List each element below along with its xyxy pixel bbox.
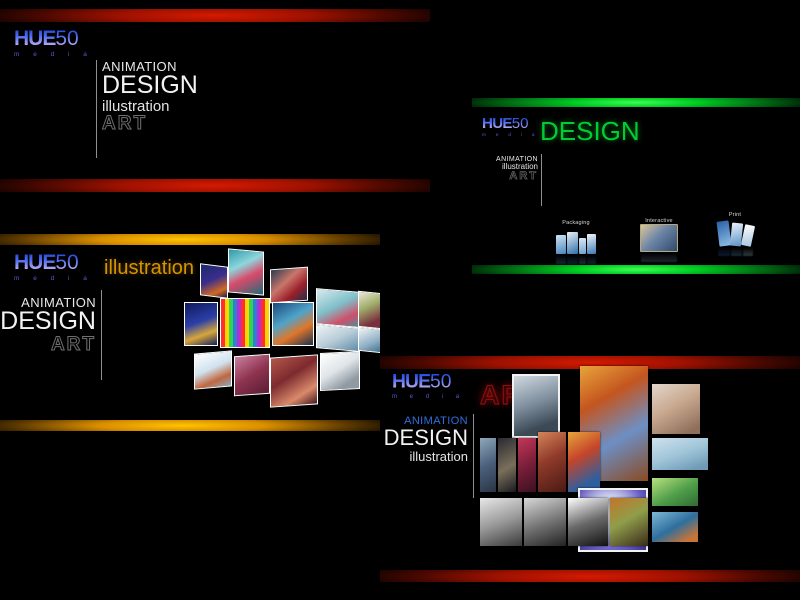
illustration-thumb[interactable] [272,302,314,346]
logo-tagline: m e d i a [392,393,465,399]
nav-divider [473,414,474,498]
logo-wordmark: HUE50 [14,252,93,273]
category-packaging[interactable]: Packaging [546,220,606,264]
logo-tagline: m e d i a [14,275,93,282]
artwork-tile[interactable] [568,498,608,546]
artwork-tile[interactable] [480,498,522,546]
category-label: Packaging [546,220,606,226]
accent-bar-bottom-red [0,179,430,192]
artwork-tile[interactable] [518,438,536,492]
artwork-tile[interactable] [610,498,648,546]
panel-heading-design: DESIGN [540,118,640,144]
nav-divider [101,290,102,380]
accent-bar-bottom-orange [0,420,380,431]
nav-item-design[interactable]: DESIGN [380,427,468,449]
panel-illustration: HUE50 m e d i a illustration ANIMATION D… [0,232,380,432]
accent-bar-bottom-red [380,570,800,582]
artwork-tile[interactable] [512,374,560,438]
nav-item-design[interactable]: DESIGN [0,309,96,335]
accent-bar-top-red [0,9,430,22]
thumbnail-row [628,226,690,252]
category-print[interactable]: Print [708,212,762,256]
thumbnail-reflection [628,253,690,262]
artwork-tile[interactable] [498,438,516,492]
logo-hue50[interactable]: HUE50 m e d i a [482,116,539,138]
nav-item-art[interactable]: ART [0,335,96,354]
logo-tagline: m e d i a [482,133,539,138]
thumbnail-reflection [546,255,606,264]
artwork-tile[interactable] [480,438,496,492]
artwork-tile[interactable] [652,438,708,470]
logo-wordmark: HUE50 [482,116,539,131]
category-label: Print [708,212,762,218]
category-interactive[interactable]: Interactive [628,218,690,262]
nav-item-illustration[interactable]: illustration [380,450,468,463]
artwork-tile[interactable] [652,478,698,506]
nav-item-art[interactable]: ART [102,114,198,133]
logo-hue50[interactable]: HUE50 m e d i a [14,28,93,58]
artwork-tile[interactable] [652,384,700,434]
nav-list-panel4: ANIMATION DESIGN illustration [380,416,468,463]
thumbnail-row [708,220,762,246]
panel-animation-design: HUE50 m e d i a ANIMATION DESIGN illustr… [0,0,430,200]
logo-wordmark: HUE50 [392,372,465,391]
panel-design: HUE50 m e d i a DESIGN ANIMATION illustr… [472,96,800,276]
logo-hue50[interactable]: HUE50 m e d i a [14,252,93,282]
illustration-thumb[interactable] [194,350,232,389]
artwork-tile[interactable] [524,498,566,546]
nav-list-panel2: ANIMATION illustration ART [472,156,538,183]
logo-tagline: m e d i a [14,51,93,58]
nav-item-art[interactable]: ART [472,171,538,182]
logo-hue50[interactable]: HUE50 m e d i a [392,372,465,400]
nav-divider [541,154,542,206]
illustration-thumb[interactable] [316,324,360,352]
accent-bar-bottom-green [472,265,800,274]
illustration-thumb[interactable] [184,302,218,346]
screenshot-stage: HUE50 m e d i a ANIMATION DESIGN illustr… [0,0,800,600]
artwork-tile[interactable] [568,432,600,492]
illustration-thumb[interactable] [200,263,228,298]
panel-art: HUE50 m e d i a ART ANIMATION DESIGN ill… [380,356,800,582]
illustration-thumb[interactable] [270,354,318,407]
artwork-tile[interactable] [538,432,566,492]
nav-item-illustration[interactable]: illustration [102,99,198,114]
art-gallery[interactable] [480,366,800,566]
illustration-collage[interactable] [180,240,380,420]
illustration-thumb[interactable] [358,291,380,330]
logo-wordmark: HUE50 [14,28,93,49]
illustration-thumb[interactable] [270,267,308,304]
illustration-thumb[interactable] [320,351,360,391]
nav-divider [96,60,97,158]
illustration-thumb[interactable] [358,327,380,354]
thumbnail-row [546,228,606,254]
illustration-thumb[interactable] [228,248,264,295]
illustration-thumb[interactable] [234,354,270,397]
nav-list-panel3: ANIMATION DESIGN ART [0,296,96,354]
artwork-tile[interactable] [652,512,698,542]
nav-list-panel1: ANIMATION DESIGN illustration ART [102,60,198,133]
nav-item-design[interactable]: DESIGN [102,73,198,99]
thumbnail-reflection [708,247,762,256]
accent-bar-top-green [472,98,800,107]
illustration-thumb[interactable] [316,288,360,328]
illustration-thumb[interactable] [220,298,270,348]
